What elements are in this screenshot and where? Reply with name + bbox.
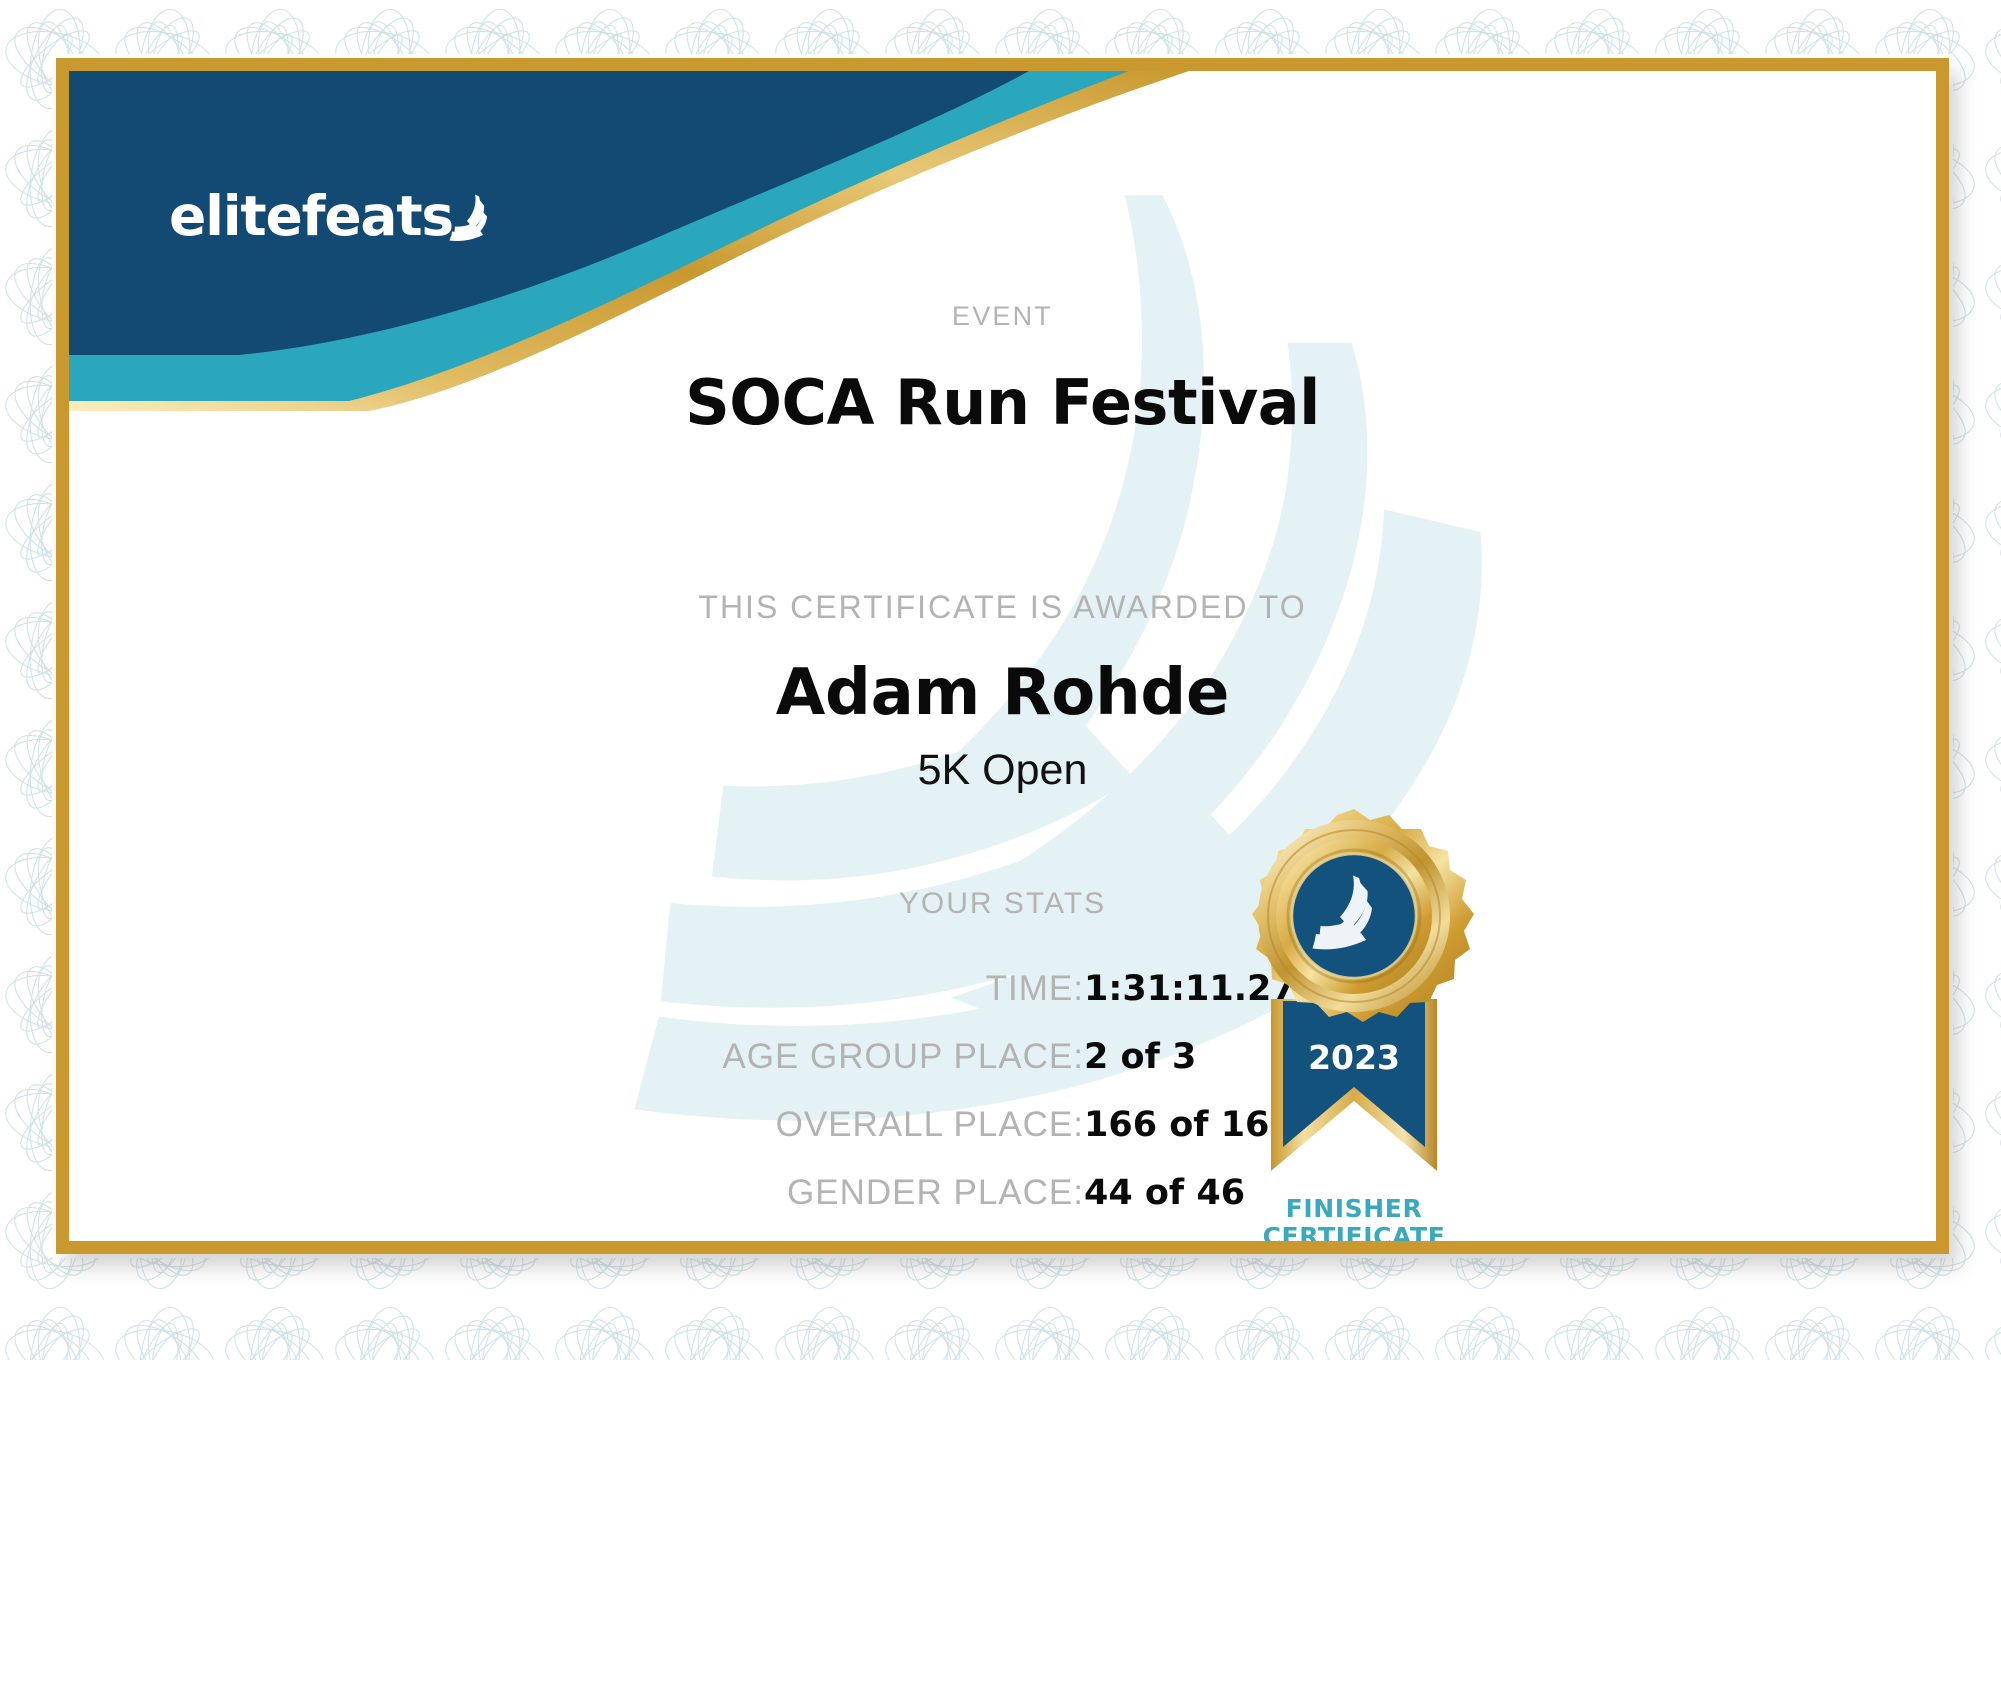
awarded-to-label: THIS CERTIFICATE IS AWARDED TO <box>69 589 1936 626</box>
certificate-body: EVENT SOCA Run Festival THIS CERTIFICATE… <box>69 301 1936 1213</box>
table-row: TIME: 1:31:11.27 <box>69 969 1936 1009</box>
division-name: 5K Open <box>69 746 1936 795</box>
ribbon: 2023 <box>1271 999 1437 1171</box>
winged-foot-icon <box>449 173 489 259</box>
seal-year: 2023 <box>1308 1038 1400 1077</box>
certificate-page: elitefeats EVENT SOCA Run Festival THIS … <box>0 0 2001 1700</box>
stat-label: AGE GROUP PLACE: <box>69 1009 1084 1077</box>
gold-medal-seal-icon: 2023 <box>1199 801 1509 1191</box>
stats-table: TIME: 1:31:11.27 AGE GROUP PLACE: 2 of 3… <box>69 969 1936 1213</box>
logo-wordmark: elitefeats <box>169 189 453 244</box>
recipient-name: Adam Rohde <box>69 656 1936 730</box>
finisher-seal: 2023 <box>1199 801 1509 1251</box>
elitefeats-logo: elitefeats <box>169 171 489 261</box>
seal-caption: FINISHER CERTIFICATE <box>1199 1195 1509 1251</box>
table-row: OVERALL PLACE: 166 of 169 <box>69 1077 1936 1145</box>
your-stats-label: YOUR STATS <box>69 887 1936 921</box>
stat-label: TIME: <box>69 969 1084 1009</box>
seal-caption-line2: CERTIFICATE <box>1199 1223 1509 1251</box>
event-name: SOCA Run Festival <box>69 366 1936 439</box>
stat-label: OVERALL PLACE: <box>69 1077 1084 1145</box>
event-label: EVENT <box>69 301 1936 332</box>
stat-label: GENDER PLACE: <box>69 1145 1084 1213</box>
certificate-card: elitefeats EVENT SOCA Run Festival THIS … <box>56 58 1949 1254</box>
seal-caption-line1: FINISHER <box>1199 1195 1509 1223</box>
table-row: AGE GROUP PLACE: 2 of 3 <box>69 1009 1936 1077</box>
table-row: GENDER PLACE: 44 of 46 <box>69 1145 1936 1213</box>
